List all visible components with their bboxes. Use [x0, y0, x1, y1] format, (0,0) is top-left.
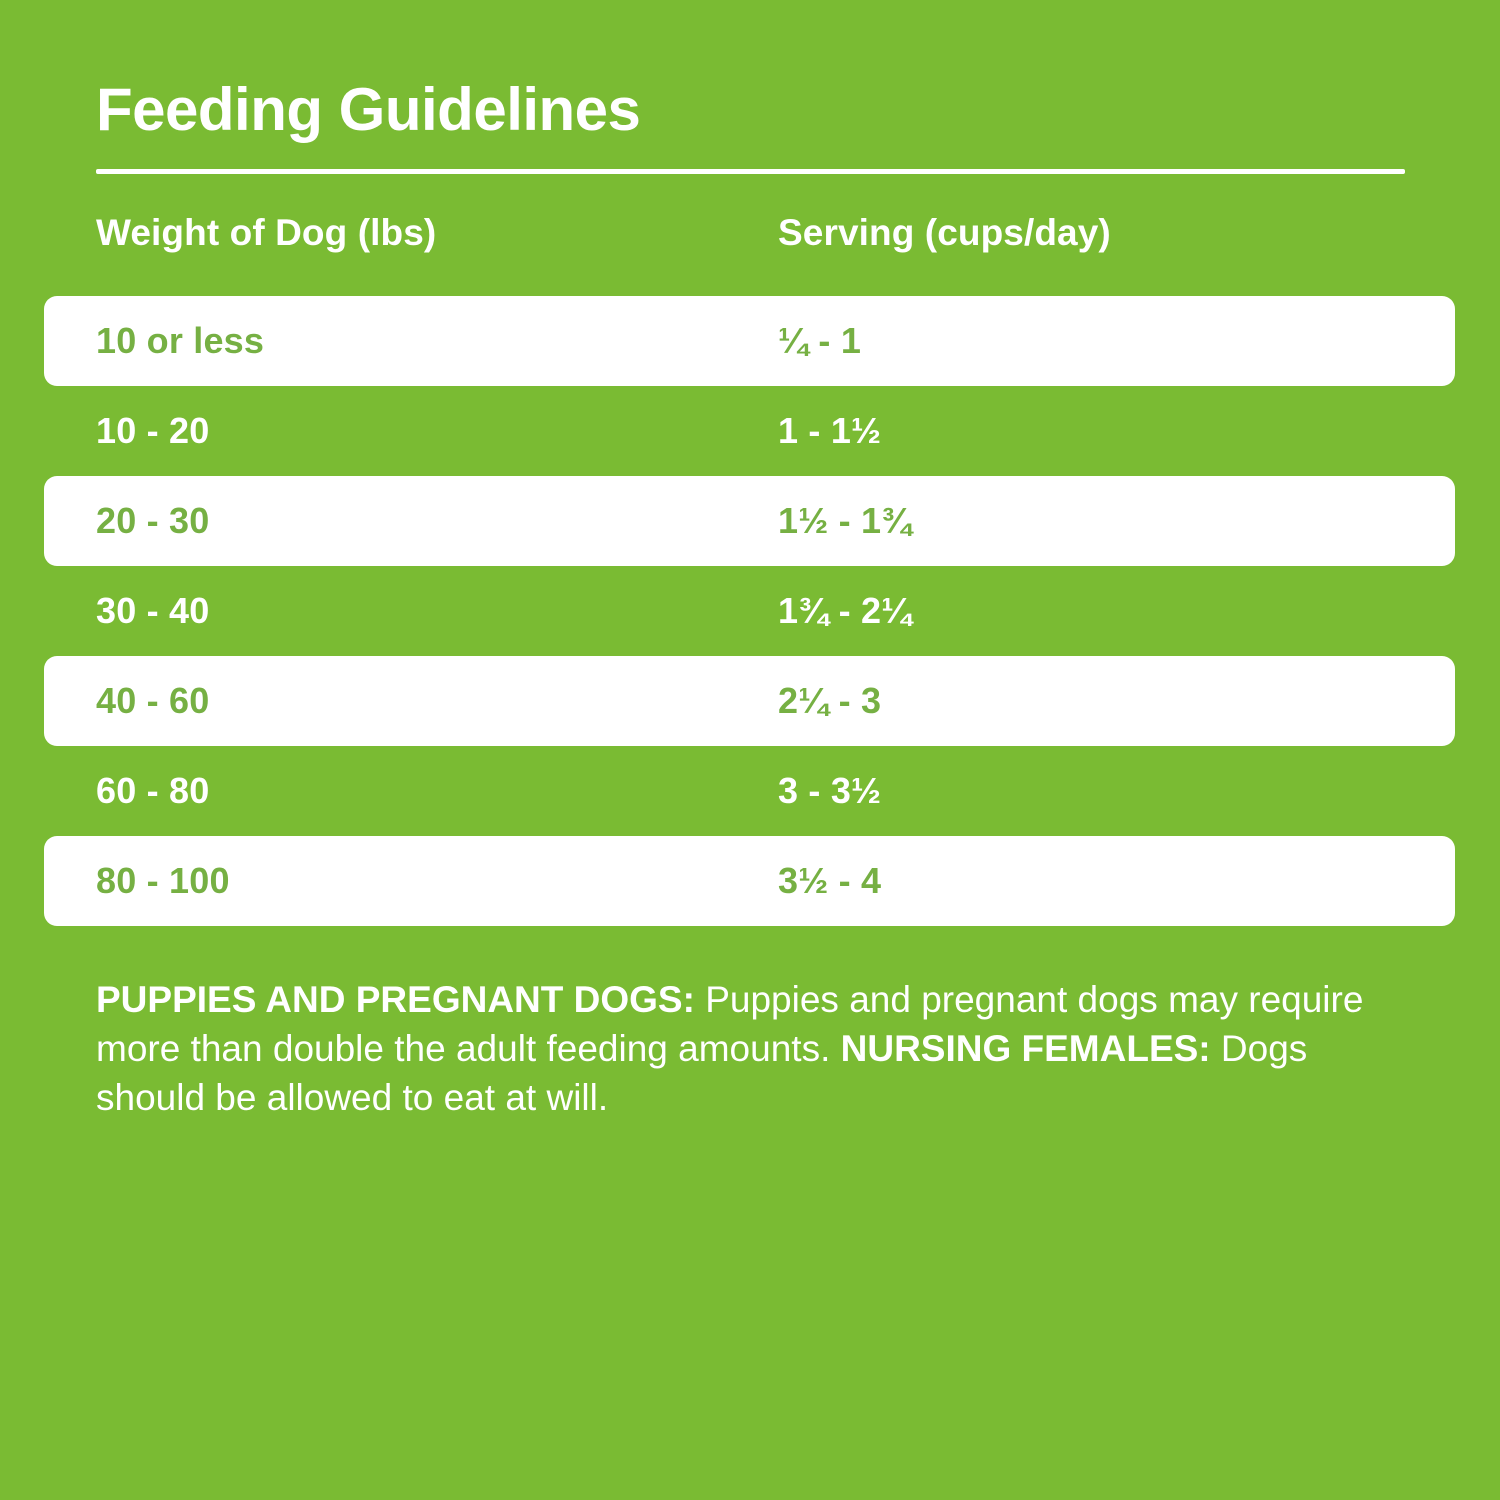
table-row: 80 - 100 3½ - 4: [0, 836, 1500, 926]
title-block: Feeding Guidelines: [96, 78, 1406, 174]
table-row: 60 - 80 3 - 3½: [0, 746, 1500, 836]
footnote-label-nursing: NURSING FEMALES:: [841, 1028, 1211, 1069]
row-card: [44, 476, 1455, 566]
cell-serving: 3½ - 4: [778, 860, 881, 902]
table-row: 20 - 30 1½ - 1¾: [0, 476, 1500, 566]
cell-weight: 10 or less: [96, 320, 264, 362]
cell-serving: 1¾ - 2¼: [778, 590, 911, 632]
table-row: 30 - 40 1¾ - 2¼: [0, 566, 1500, 656]
column-header-serving: Serving (cups/day): [778, 212, 1111, 254]
row-card: [44, 656, 1455, 746]
page-title: Feeding Guidelines: [96, 78, 1406, 141]
table-body: 10 or less ¼ - 1 10 - 20 1 - 1½ 20 - 30 …: [0, 296, 1500, 926]
cell-weight: 60 - 80: [96, 770, 209, 812]
cell-weight: 80 - 100: [96, 860, 230, 902]
table-row: 10 - 20 1 - 1½: [0, 386, 1500, 476]
cell-serving: ¼ - 1: [778, 320, 861, 362]
column-header-weight: Weight of Dog (lbs): [96, 212, 436, 254]
table-row: 10 or less ¼ - 1: [0, 296, 1500, 386]
cell-serving: 2¼ - 3: [778, 680, 881, 722]
footnote-label-puppies: PUPPIES AND PREGNANT DOGS:: [96, 979, 695, 1020]
table-header-row: Weight of Dog (lbs) Serving (cups/day): [0, 212, 1500, 296]
row-card: [44, 566, 1455, 656]
footnote-text: PUPPIES AND PREGNANT DOGS: Puppies and p…: [96, 975, 1416, 1123]
cell-serving: 1½ - 1¾: [778, 500, 911, 542]
cell-weight: 40 - 60: [96, 680, 209, 722]
feeding-table: Weight of Dog (lbs) Serving (cups/day) 1…: [0, 212, 1500, 926]
cell-weight: 10 - 20: [96, 410, 209, 452]
title-divider: [96, 169, 1405, 174]
cell-serving: 3 - 3½: [778, 770, 881, 812]
cell-serving: 1 - 1½: [778, 410, 881, 452]
cell-weight: 30 - 40: [96, 590, 209, 632]
row-card: [44, 836, 1455, 926]
row-card: [44, 746, 1455, 836]
feeding-guidelines-panel: Feeding Guidelines Weight of Dog (lbs) S…: [0, 0, 1500, 1500]
cell-weight: 20 - 30: [96, 500, 209, 542]
table-row: 40 - 60 2¼ - 3: [0, 656, 1500, 746]
row-card: [44, 386, 1455, 476]
